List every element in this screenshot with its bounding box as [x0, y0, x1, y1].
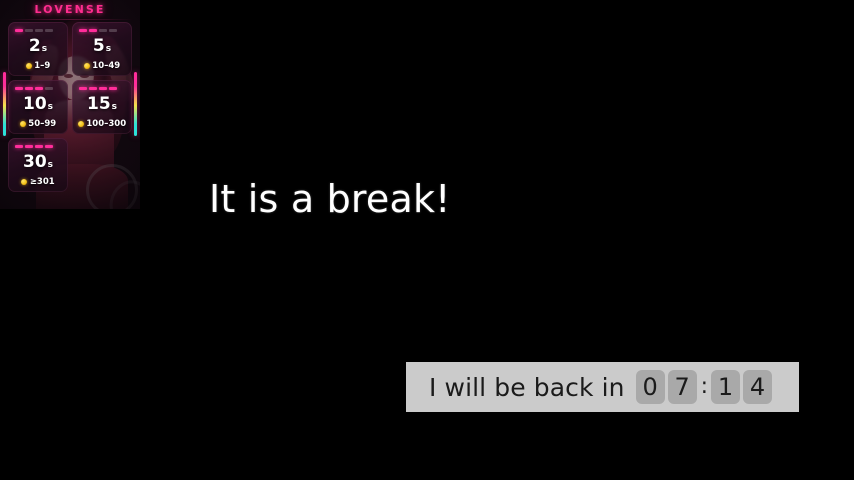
tip-level-tile[interactable]: 5s10–49	[72, 22, 132, 76]
level-dash	[109, 29, 117, 32]
lovense-tip-menu-panel: LOVENSE 2s1–95s10–4910s50–9915s100–30030…	[0, 0, 140, 209]
level-dash	[15, 29, 23, 32]
coin-icon	[21, 179, 27, 185]
level-dash	[45, 29, 53, 32]
level-dash	[35, 145, 43, 148]
tip-range-label: ≥301	[30, 177, 55, 187]
gradient-accent-bar-right	[134, 72, 137, 136]
countdown-timer: 07:14	[636, 370, 775, 404]
tip-level-tile[interactable]: 2s1–9	[8, 22, 68, 76]
tip-level-indicator	[79, 87, 117, 90]
level-dash	[25, 29, 33, 32]
tip-duration-unit: s	[106, 44, 111, 54]
tip-range-row: 1–9	[8, 61, 68, 71]
tip-level-tile[interactable]: 15s100–300	[72, 80, 132, 134]
level-dash	[109, 87, 117, 90]
tip-duration: 30s	[8, 153, 68, 175]
tip-duration: 2s	[8, 37, 68, 59]
level-dash	[15, 87, 23, 90]
tip-duration: 15s	[72, 95, 132, 117]
level-dash	[99, 87, 107, 90]
tip-level-indicator	[15, 87, 53, 90]
level-dash	[99, 29, 107, 32]
tip-range-label: 1–9	[34, 61, 50, 71]
tip-range-label: 100–300	[86, 119, 126, 129]
tip-level-indicator	[15, 29, 53, 32]
countdown-digit: 0	[636, 370, 665, 404]
tip-duration-unit: s	[42, 44, 47, 54]
break-message: It is a break!	[209, 176, 451, 222]
level-dash	[79, 29, 87, 32]
tip-duration: 5s	[72, 37, 132, 59]
tip-range-row: 10–49	[72, 61, 132, 71]
countdown-digit: 7	[668, 370, 697, 404]
tip-level-tile[interactable]: 10s50–99	[8, 80, 68, 134]
level-dash	[35, 87, 43, 90]
tip-range-row: 50–99	[8, 119, 68, 129]
tip-range-label: 50–99	[28, 119, 56, 129]
tip-duration-unit: s	[48, 160, 53, 170]
coin-icon	[26, 63, 32, 69]
tip-duration: 10s	[8, 95, 68, 117]
level-dash	[35, 29, 43, 32]
tip-duration-unit: s	[112, 102, 117, 112]
level-dash	[89, 29, 97, 32]
tip-range-row: ≥301	[8, 177, 68, 187]
brand-divider	[6, 19, 134, 20]
countdown-label: I will be back in	[429, 373, 625, 402]
gradient-accent-bar-left	[3, 72, 6, 136]
countdown-digit: 1	[711, 370, 740, 404]
tip-level-indicator	[15, 145, 53, 148]
countdown-digit: 4	[743, 370, 772, 404]
level-dash	[15, 145, 23, 148]
tip-level-indicator	[79, 29, 117, 32]
tip-level-grid: 2s1–95s10–4910s50–9915s100–30030s≥301	[8, 22, 132, 192]
coin-icon	[20, 121, 26, 127]
countdown-separator: :	[701, 376, 708, 398]
coin-icon	[84, 63, 90, 69]
level-dash	[45, 87, 53, 90]
level-dash	[79, 87, 87, 90]
tip-range-label: 10–49	[92, 61, 120, 71]
lovense-logo: LOVENSE	[0, 3, 140, 16]
tip-duration-unit: s	[48, 102, 53, 112]
level-dash	[89, 87, 97, 90]
level-dash	[25, 145, 33, 148]
tip-level-tile[interactable]: 30s≥301	[8, 138, 68, 192]
tip-range-row: 100–300	[72, 119, 132, 129]
level-dash	[45, 145, 53, 148]
countdown-banner: I will be back in 07:14	[406, 362, 799, 412]
coin-icon	[78, 121, 84, 127]
level-dash	[25, 87, 33, 90]
